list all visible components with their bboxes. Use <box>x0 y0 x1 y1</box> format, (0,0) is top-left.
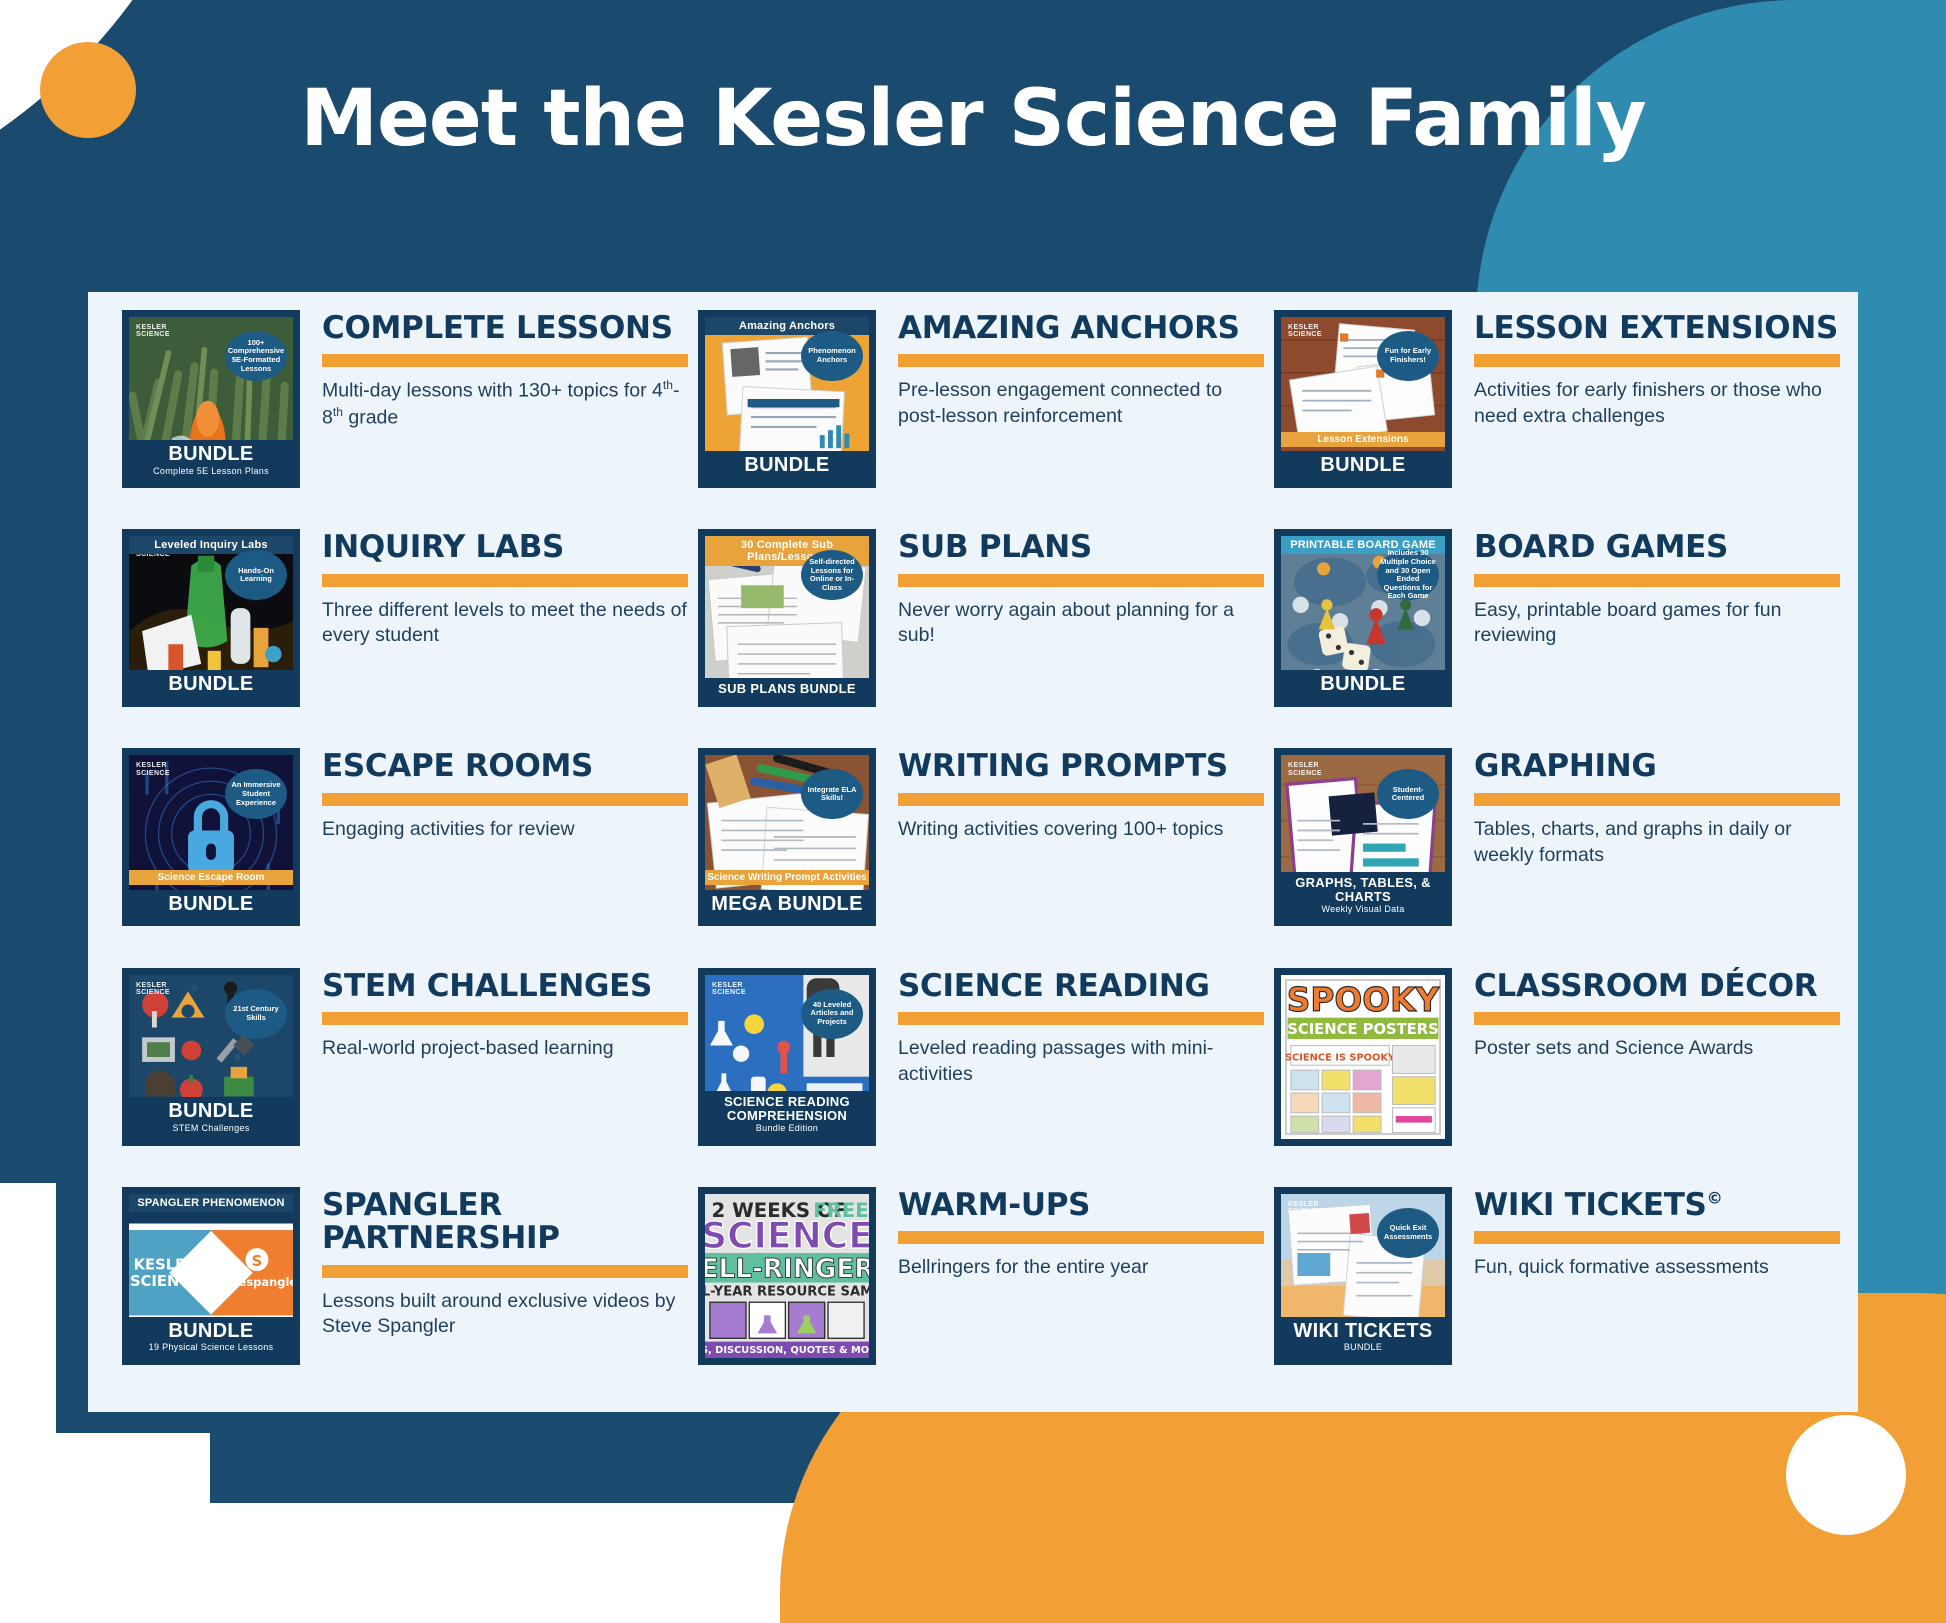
product-card[interactable]: KESLER SCIENCE S stevespangler SPANGLER … <box>122 1187 698 1406</box>
svg-text:BELL-RINGERS: BELL-RINGERS <box>705 1254 869 1284</box>
product-thumbnail[interactable]: KESLERSCIENCEFun for Early Finishers!Les… <box>1274 310 1452 488</box>
product-title: CLASSROOM DÉCOR <box>1474 970 1840 1003</box>
product-title: ESCAPE ROOMS <box>322 750 688 783</box>
product-body: WRITING PROMPTS Writing activities cover… <box>898 748 1264 842</box>
orange-divider <box>322 793 688 806</box>
product-title: AMAZING ANCHORS <box>898 312 1264 345</box>
product-thumbnail[interactable]: KESLERSCIENCEQuick Exit AssessmentsWIKI … <box>1274 1187 1452 1365</box>
product-body: GRAPHING Tables, charts, and graphs in d… <box>1474 748 1840 868</box>
svg-text:S: S <box>252 1253 263 1270</box>
orange-divider <box>322 1265 688 1278</box>
thumbnail-badge: Quick Exit Assessments <box>1377 1208 1439 1258</box>
product-title: COMPLETE LESSONS <box>322 312 688 345</box>
product-body: WARM-UPS Bellringers for the entire year <box>898 1187 1264 1281</box>
product-body: CLASSROOM DÉCOR Poster sets and Science … <box>1474 968 1840 1062</box>
orange-divider <box>1474 1012 1840 1025</box>
product-body: BOARD GAMES Easy, printable board games … <box>1474 529 1840 649</box>
product-description: Engaging activities for review <box>322 817 688 843</box>
kesler-science-logo-icon: KESLERSCIENCE <box>136 762 170 777</box>
svg-text:KESLER: KESLER <box>134 1256 198 1273</box>
product-thumbnail[interactable]: KESLER SCIENCE S stevespangler SPANGLER … <box>122 1187 300 1365</box>
thumbnail-band: Science Escape Room <box>129 870 293 885</box>
thumbnail-badge: 21st Century Skills <box>225 989 287 1039</box>
product-title: BOARD GAMES <box>1474 531 1840 564</box>
orange-divider <box>898 1012 1264 1025</box>
product-description: Easy, printable board games for fun revi… <box>1474 598 1840 649</box>
orange-divider <box>1474 793 1840 806</box>
product-thumbnail[interactable]: Amazing AnchorsPhenomenon AnchorsBUNDLE <box>698 310 876 488</box>
svg-text:FULL-YEAR RESOURCE SAMPLE: FULL-YEAR RESOURCE SAMPLE <box>705 1284 869 1299</box>
product-description: Poster sets and Science Awards <box>1474 1036 1840 1062</box>
product-title: SCIENCE READING <box>898 970 1264 1003</box>
thumbnail-caption: SUB PLANS BUNDLE <box>705 678 869 701</box>
product-title: GRAPHING <box>1474 750 1840 783</box>
product-description: Fun, quick formative assessments <box>1474 1255 1840 1281</box>
product-card[interactable]: Integrate ELA Skills!Science Writing Pro… <box>698 748 1274 967</box>
product-body: LESSON EXTENSIONS Activities for early f… <box>1474 310 1840 430</box>
product-thumbnail[interactable]: KESLERSCIENCEAn Immersive Student Experi… <box>122 748 300 926</box>
product-body: INQUIRY LABS Three different levels to m… <box>322 529 688 649</box>
product-description: Pre-lesson engagement connected to post-… <box>898 378 1264 429</box>
product-card[interactable]: KESLERSCIENCEAn Immersive Student Experi… <box>122 748 698 967</box>
product-card[interactable]: SPOOKY SCIENCE POSTERS SCIENCE IS SPOOKY <box>1274 968 1850 1187</box>
product-description: Writing activities covering 100+ topics <box>898 817 1264 843</box>
thumbnail-badge: 100+ Comprehensive 5E-Formatted Lessons <box>225 331 287 381</box>
page-title: Meet the Kesler Science Family <box>0 74 1946 164</box>
product-thumbnail[interactable]: 30 Complete Sub Plans/LessonsSelf-direct… <box>698 529 876 707</box>
orange-divider <box>898 354 1264 367</box>
product-description: Real-world project-based learning <box>322 1036 688 1062</box>
product-thumbnail[interactable]: KESLERSCIENCEStudent-CenteredGRAPHS, TAB… <box>1274 748 1452 926</box>
svg-text:stevespangler: stevespangler <box>211 1275 293 1289</box>
product-description: Lessons built around exclusive videos by… <box>322 1289 688 1340</box>
product-card[interactable]: KESLERSCIENCEFun for Early Finishers!Les… <box>1274 310 1850 529</box>
product-card[interactable]: KESLERSCIENCE21st Century SkillsBUNDLEST… <box>122 968 698 1187</box>
product-thumbnail[interactable]: KESLERSCIENCELeveled Inquiry LabsHands-O… <box>122 529 300 707</box>
product-grid: KESLERSCIENCE100+ Comprehensive 5E-Forma… <box>88 292 1858 1412</box>
thumbnail-badge: Fun for Early Finishers! <box>1377 331 1439 381</box>
product-description: Never worry again about planning for a s… <box>898 598 1264 649</box>
thumbnail-caption: MEGA BUNDLE <box>705 890 869 920</box>
product-card[interactable]: PRINTABLE BOARD GAMEIncludes 30 Multiple… <box>1274 529 1850 748</box>
product-card[interactable]: KESLERSCIENCE100+ Comprehensive 5E-Forma… <box>122 310 698 529</box>
thumbnail-badge: 40 Leveled Articles and Projects <box>801 989 863 1039</box>
svg-text:SCIENCE POSTERS: SCIENCE POSTERS <box>1287 1021 1438 1038</box>
thumbnail-caption: BUNDLEComplete 5E Lesson Plans <box>129 440 293 481</box>
product-description: Three different levels to meet the needs… <box>322 598 688 649</box>
thumbnail-caption: BUNDLE <box>1281 670 1445 700</box>
thumbnail-caption: GRAPHS, TABLES, & CHARTSWeekly Visual Da… <box>1281 872 1445 919</box>
thumbnail-badge: Hands-On Learning <box>225 550 287 600</box>
product-body: ESCAPE ROOMS Engaging activities for rev… <box>322 748 688 842</box>
thumbnail-caption: WIKI TICKETSBUNDLE <box>1281 1317 1445 1358</box>
thumbnail-badge: Self-directed Lessons for Online or In-C… <box>801 550 863 600</box>
product-card[interactable]: KESLERSCIENCELeveled Inquiry LabsHands-O… <box>122 529 698 748</box>
product-body: SPANGLER PARTNERSHIP Lessons built aroun… <box>322 1187 688 1340</box>
product-description: Tables, charts, and graphs in daily or w… <box>1474 817 1840 868</box>
product-title: STEM CHALLENGES <box>322 970 688 1003</box>
product-body: COMPLETE LESSONS Multi-day lessons with … <box>322 310 688 431</box>
product-title: SPANGLER PARTNERSHIP <box>322 1189 688 1256</box>
kesler-science-logo-icon: KESLERSCIENCE <box>1288 762 1322 777</box>
product-thumbnail[interactable]: KESLERSCIENCE21st Century SkillsBUNDLEST… <box>122 968 300 1146</box>
product-body: AMAZING ANCHORS Pre-lesson engagement co… <box>898 310 1264 430</box>
product-title: WRITING PROMPTS <box>898 750 1264 783</box>
product-description: Multi-day lessons with 130+ topics for 4… <box>322 378 688 430</box>
product-card[interactable]: 2 WEEKS OF FREE SCIENCE BELL-RINGERS FUL… <box>698 1187 1274 1406</box>
thumbnail-art: 2 WEEKS OF FREE SCIENCE BELL-RINGERS FUL… <box>705 1194 869 1358</box>
svg-text:SCIENCE: SCIENCE <box>705 1215 869 1257</box>
product-description: Leveled reading passages with mini-activ… <box>898 1036 1264 1087</box>
thumbnail-caption: BUNDLE <box>129 890 293 920</box>
thumbnail-badge: Phenomenon Anchors <box>801 331 863 381</box>
orange-divider <box>322 1012 688 1025</box>
kesler-science-logo-icon: KESLERSCIENCE <box>1288 1201 1322 1216</box>
product-thumbnail[interactable]: KESLERSCIENCE100+ Comprehensive 5E-Forma… <box>122 310 300 488</box>
product-description: Bellringers for the entire year <box>898 1255 1264 1281</box>
orange-divider <box>322 354 688 367</box>
product-card[interactable]: KESLERSCIENCEStudent-CenteredGRAPHS, TAB… <box>1274 748 1850 967</box>
thumbnail-band: Science Writing Prompt Activities <box>705 870 869 885</box>
product-thumbnail[interactable]: KESLERSCIENCE40 Leveled Articles and Pro… <box>698 968 876 1146</box>
product-body: SCIENCE READING Leveled reading passages… <box>898 968 1264 1088</box>
product-thumbnail[interactable]: 2 WEEKS OF FREE SCIENCE BELL-RINGERS FUL… <box>698 1187 876 1365</box>
thumbnail-caption: SCIENCE READING COMPREHENSIONBundle Edit… <box>705 1091 869 1138</box>
family-grid-panel: KESLERSCIENCE100+ Comprehensive 5E-Forma… <box>88 292 1858 1412</box>
thumbnail-caption: BUNDLE <box>705 451 869 481</box>
svg-text:VIDEOS, DISCUSSION, QUOTES & M: VIDEOS, DISCUSSION, QUOTES & MORE! <box>705 1345 869 1356</box>
orange-divider <box>1474 574 1840 587</box>
thumbnail-caption: BUNDLE <box>1281 451 1445 481</box>
orange-divider <box>898 793 1264 806</box>
white-circle-bottom-right <box>1786 1415 1906 1535</box>
product-title: WIKI TICKETS© <box>1474 1189 1840 1222</box>
orange-divider <box>1474 354 1840 367</box>
product-body: STEM CHALLENGES Real-world project-based… <box>322 968 688 1062</box>
product-card[interactable]: KESLERSCIENCE40 Leveled Articles and Pro… <box>698 968 1274 1187</box>
product-title: SUB PLANS <box>898 531 1264 564</box>
product-card[interactable]: Amazing AnchorsPhenomenon AnchorsBUNDLE … <box>698 310 1274 529</box>
orange-divider <box>1474 1231 1840 1244</box>
product-thumbnail[interactable]: SPOOKY SCIENCE POSTERS SCIENCE IS SPOOKY <box>1274 968 1452 1146</box>
product-title: INQUIRY LABS <box>322 531 688 564</box>
thumbnail-caption: BUNDLESTEM Challenges <box>129 1097 293 1138</box>
product-description: Activities for early finishers or those … <box>1474 378 1840 429</box>
kesler-science-logo-icon: KESLERSCIENCE <box>136 982 170 997</box>
orange-divider <box>322 574 688 587</box>
svg-text:SCIENCE: SCIENCE <box>130 1273 200 1290</box>
product-title: LESSON EXTENSIONS <box>1474 312 1840 345</box>
white-wedge-bottom-left-2 <box>0 1433 210 1503</box>
thumbnail-caption: BUNDLE19 Physical Science Lessons <box>129 1317 293 1358</box>
kesler-science-logo-icon: KESLERSCIENCE <box>1288 324 1322 339</box>
product-title: WARM-UPS <box>898 1189 1264 1222</box>
kesler-science-logo-icon: KESLERSCIENCE <box>712 982 746 997</box>
product-thumbnail[interactable]: Integrate ELA Skills!Science Writing Pro… <box>698 748 876 926</box>
product-body: WIKI TICKETS© Fun, quick formative asses… <box>1474 1187 1840 1281</box>
kesler-science-logo-icon: KESLERSCIENCE <box>136 324 170 339</box>
orange-divider <box>898 1231 1264 1244</box>
product-card[interactable]: 30 Complete Sub Plans/LessonsSelf-direct… <box>698 529 1274 748</box>
product-body: SUB PLANS Never worry again about planni… <box>898 529 1264 649</box>
product-card[interactable]: KESLERSCIENCEQuick Exit AssessmentsWIKI … <box>1274 1187 1850 1406</box>
svg-text:SCIENCE IS SPOOKY: SCIENCE IS SPOOKY <box>1285 1052 1396 1063</box>
thumbnail-caption: BUNDLE <box>129 670 293 700</box>
orange-divider <box>898 574 1264 587</box>
product-thumbnail[interactable]: PRINTABLE BOARD GAMEIncludes 30 Multiple… <box>1274 529 1452 707</box>
thumbnail-art: SPOOKY SCIENCE POSTERS SCIENCE IS SPOOKY <box>1281 975 1445 1139</box>
thumbnail-top-tag: SPANGLER PHENOMENON <box>129 1194 293 1212</box>
thumbnail-badge: Includes 30 Multiple Choice and 30 Open … <box>1377 550 1439 600</box>
thumbnail-band: Lesson Extensions <box>1281 432 1445 447</box>
svg-text:SPOOKY: SPOOKY <box>1287 981 1441 1019</box>
